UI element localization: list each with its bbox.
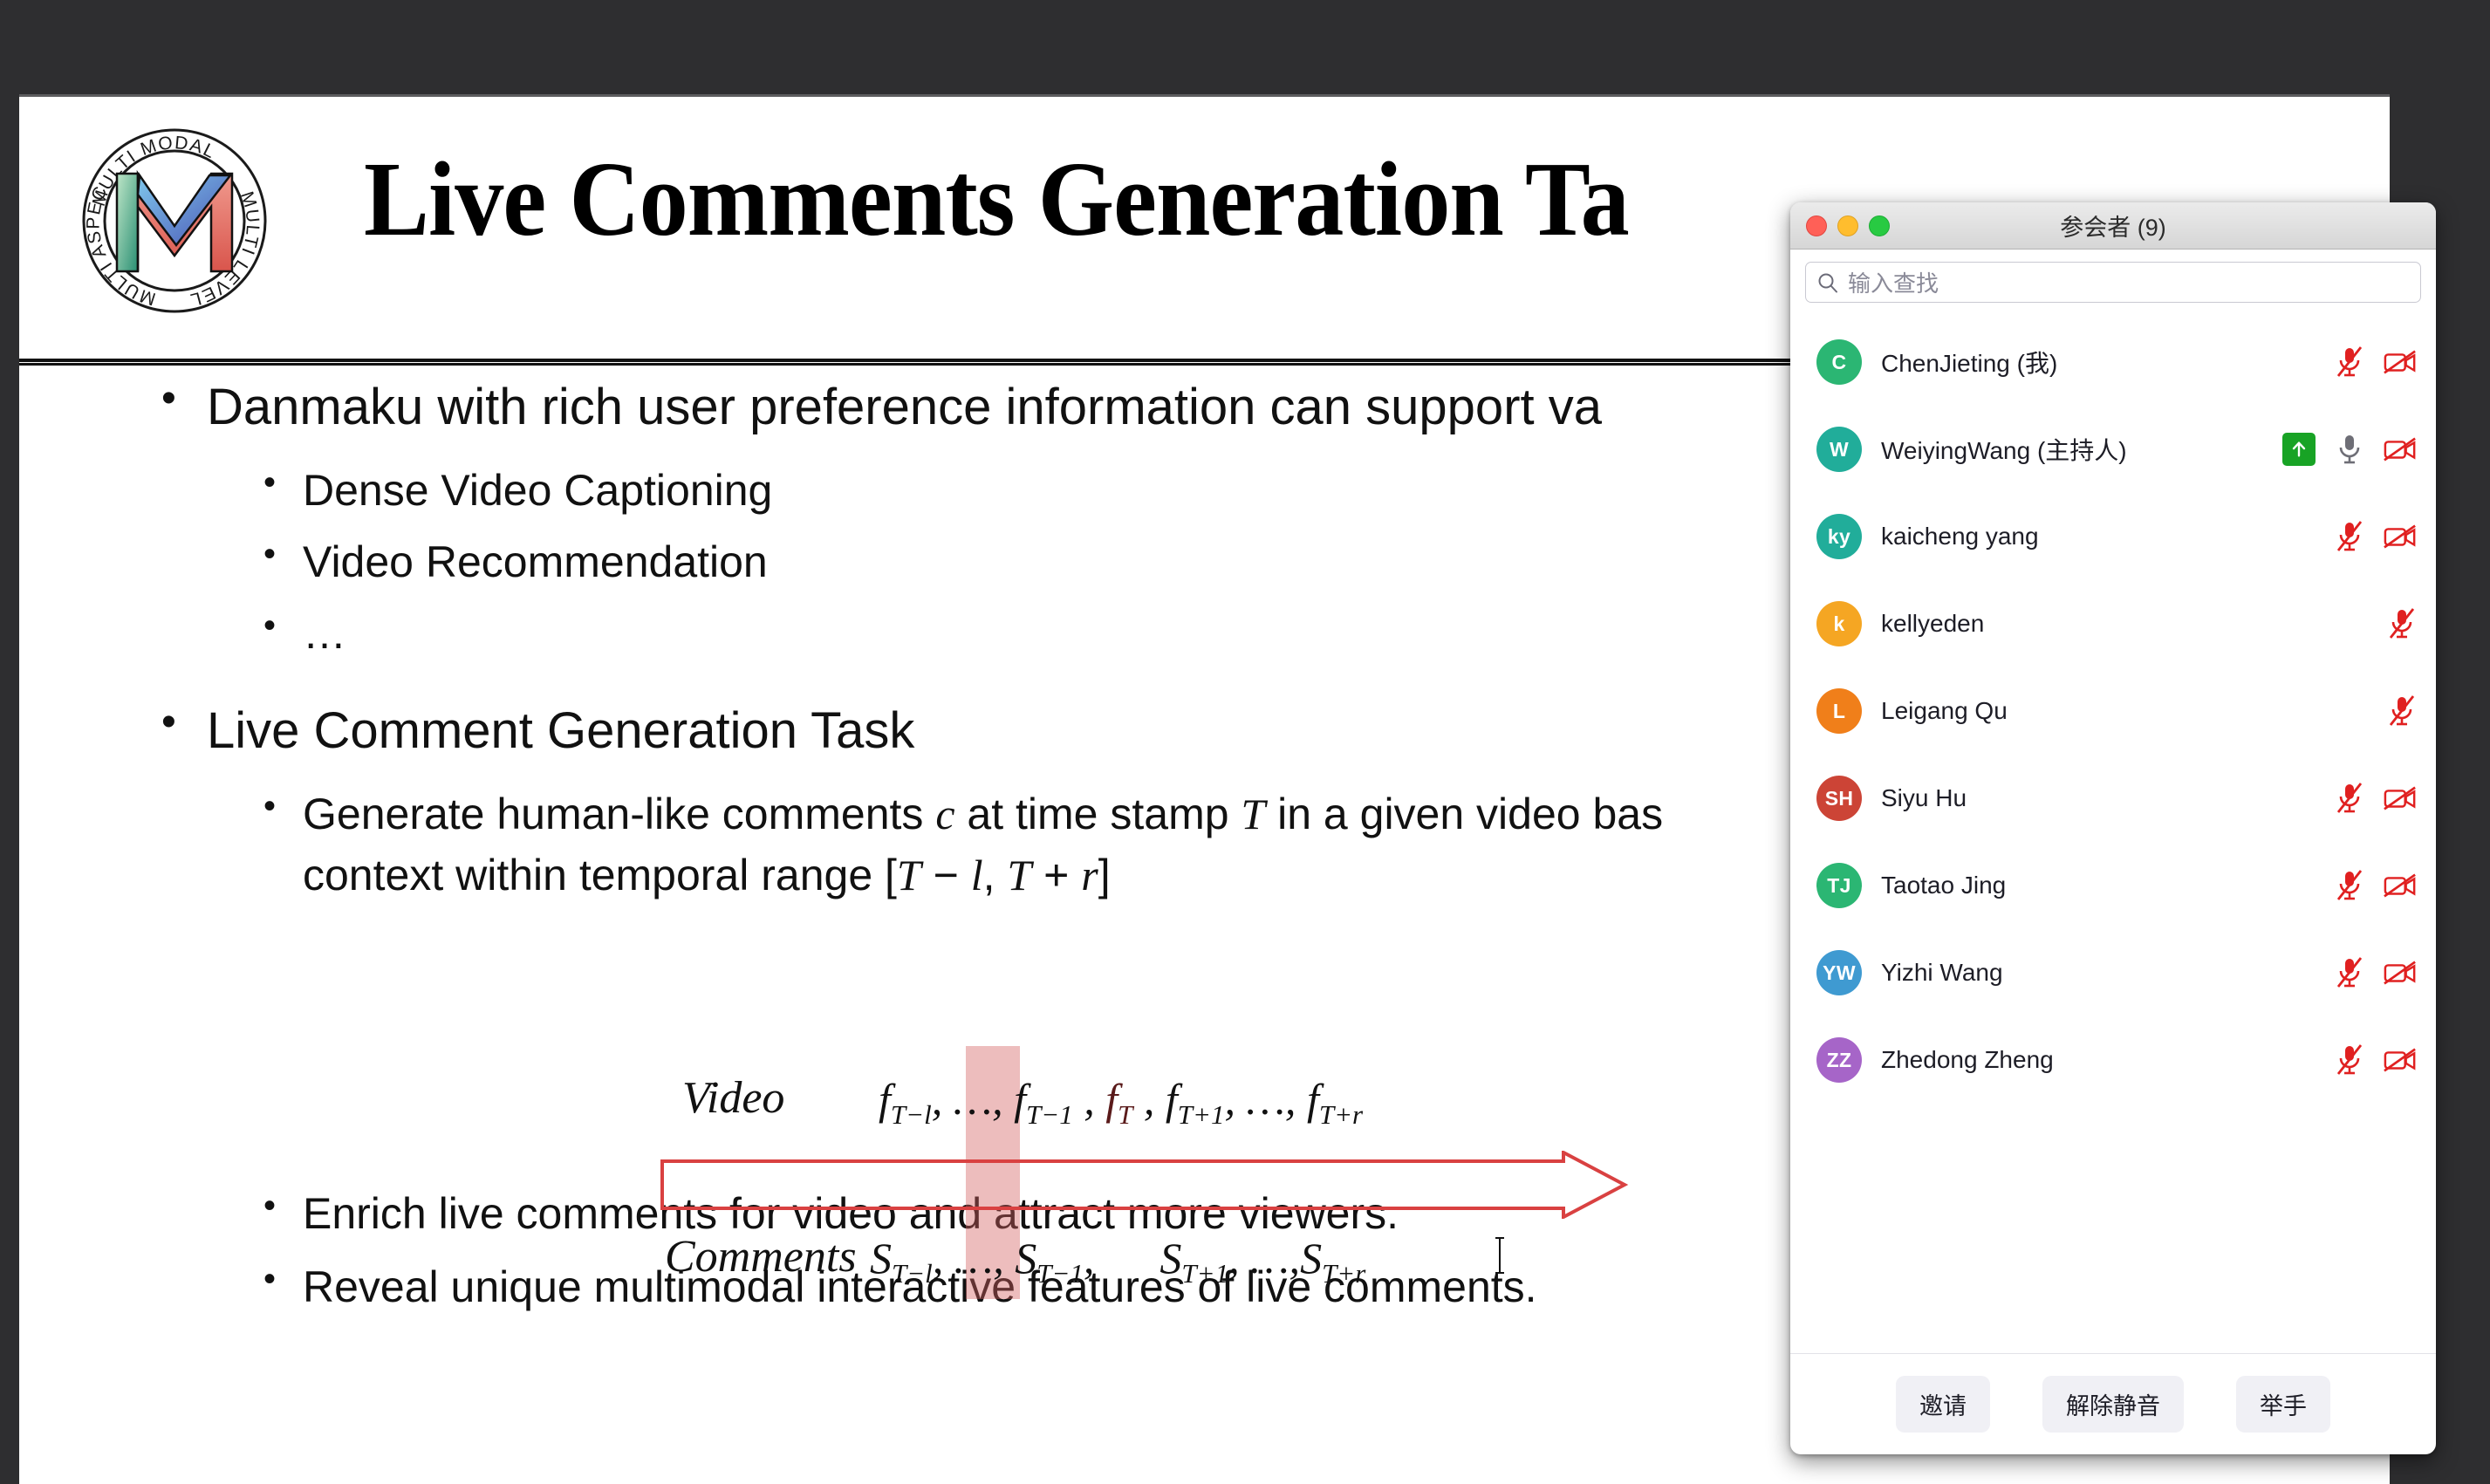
term-f-T: fT [1095,1075,1144,1124]
raise-hand-button[interactable]: 举手 [2236,1376,2330,1433]
camera-off-icon [2384,960,2417,986]
camera-off-icon [2384,523,2417,550]
bullet-marker: • [161,701,176,743]
participant-status-icons [2335,1043,2417,1077]
participant-name: kaicheng yang [1881,523,2335,551]
participant-row[interactable]: ZZZhedong Zheng [1790,1016,2436,1104]
window-controls[interactable] [1806,202,1890,249]
search-input[interactable]: 输入查找 [1805,262,2421,303]
participant-row[interactable]: kkellyeden [1790,580,2436,667]
participant-status-icons [2387,694,2417,728]
participants-panel[interactable]: 参会者 (9) 输入查找 CChenJieting (我)WWeiyingWan… [1790,202,2436,1454]
generate-line1-b: at time stamp [955,790,1242,838]
participant-row[interactable]: WWeiyingWang (主持人) [1790,406,2436,493]
participant-status-icons [2335,345,2417,379]
term-S-T-plus-r: ST+r [1300,1234,1365,1282]
term-S-T-minus-1: ST−1 [1015,1234,1084,1282]
math-comma: , [983,851,1008,899]
diagram-label-video: Video [682,1072,784,1124]
bullet-marker: • [263,1262,276,1296]
text-cursor-icon [1494,1235,1506,1275]
participant-row[interactable]: TJTaotao Jing [1790,842,2436,929]
term-f-T-plus-r: fT+r [1307,1075,1363,1124]
math-minus: − [921,851,971,899]
participant-row[interactable]: SHSiyu Hu [1790,755,2436,842]
ellipsis: , …, [1224,1075,1306,1124]
participant-name: Siyu Hu [1881,784,2335,812]
unmute-button[interactable]: 解除静音 [2042,1376,2184,1433]
term-f-T-minus-l: fT−l [879,1075,932,1124]
term-f-T-plus-1: fT+1 [1166,1075,1225,1124]
close-icon[interactable] [1806,215,1827,236]
panel-title: 参会者 (9) [2060,209,2166,243]
search-placeholder: 输入查找 [1848,266,1939,298]
panel-search-container: 输入查找 [1790,250,2436,311]
term-S-T-minus-l: ST−l [870,1234,933,1282]
bullet-marker: • [263,608,276,643]
timeline-arrow-icon [660,1151,1655,1219]
bullet-text: … [303,609,346,658]
participants-list[interactable]: CChenJieting (我)WWeiyingWang (主持人)kykaic… [1790,311,2436,1353]
math-var-T2: T [1007,851,1031,899]
generate-line1-d: in a given video bas [1265,790,1663,838]
math-bracket-close: ] [1098,851,1111,899]
mic-muted-icon [2387,694,2417,728]
participant-status-icons [2335,956,2417,989]
ellipsis: , …, [1228,1234,1300,1282]
bullet-text: Live Comment Generation Task [207,702,914,759]
mic-muted-icon [2335,345,2364,379]
camera-off-icon [2384,349,2417,375]
diagram-label-comments: Comments [665,1231,857,1282]
participant-row[interactable]: CChenJieting (我) [1790,318,2436,406]
mic-icon [2335,433,2364,466]
bullet-marker: • [161,378,176,420]
multimodal-logo-icon: MULTI MODAL MULTI LEVEL MULTI ASPECT [77,123,273,319]
term-S-T-plus-1: ST+1 [1159,1234,1228,1282]
term-f-T-minus-1: fT−1 [1014,1075,1073,1124]
avatar: L [1816,688,1862,734]
bullet-text: Danmaku with rich user preference inform… [207,379,1602,435]
slide-title: Live Comments Generation Ta [364,139,1629,261]
math-plus: + [1031,851,1081,899]
invite-button[interactable]: 邀请 [1896,1376,1990,1433]
participant-name: kellyeden [1881,610,2387,638]
generate-line2-a: context within temporal range [ [303,851,897,899]
participant-name: ChenJieting (我) [1881,345,2335,380]
participant-name: Yizhi Wang [1881,959,2335,987]
participant-status-icons [2282,433,2417,466]
camera-off-icon [2384,872,2417,899]
participant-row[interactable]: kykaicheng yang [1790,493,2436,580]
bullet-marker: • [263,789,276,824]
panel-footer: 邀请 解除静音 举手 [1790,1353,2436,1454]
search-icon [1816,271,1839,294]
maximize-icon[interactable] [1869,215,1890,236]
avatar: C [1816,339,1862,385]
ellipsis: , …, [933,1234,1015,1282]
avatar: TJ [1816,863,1862,908]
bullet-text: Dense Video Captioning [303,466,772,515]
participant-status-icons [2335,520,2417,553]
participant-name: Leigang Qu [1881,697,2387,725]
minimize-icon[interactable] [1837,215,1858,236]
avatar: k [1816,601,1862,646]
participant-name: Taotao Jing [1881,872,2335,899]
generate-line1-a: Generate human-like comments [303,790,935,838]
bullet-marker: • [263,465,276,500]
participant-name: Zhedong Zheng [1881,1046,2335,1074]
math-var-l: l [971,851,983,899]
math-var-r: r [1081,851,1098,899]
participant-row[interactable]: YWYizhi Wang [1790,929,2436,1016]
bullet-marker: • [263,1188,276,1223]
bullet-text: Video Recommendation [303,537,768,586]
participant-name: WeiyingWang (主持人) [1881,432,2282,467]
avatar: SH [1816,776,1862,821]
participant-status-icons [2387,607,2417,640]
avatar: ky [1816,514,1862,559]
camera-off-icon [2384,436,2417,462]
bullet-marker: • [263,537,276,571]
mic-muted-icon [2335,1043,2364,1077]
camera-off-icon [2384,1047,2417,1073]
math-var-T: T [1241,790,1265,838]
screen-share-icon[interactable] [2282,433,2316,466]
participant-status-icons [2335,869,2417,902]
math-var-c: c [935,790,954,838]
diagram-video-terms: fT−l, …, fT−1 , fT , fT+1, …, fT+r [879,1074,1363,1131]
avatar: YW [1816,950,1862,995]
camera-off-icon [2384,785,2417,811]
ellipsis: , …, [932,1075,1014,1124]
mic-muted-icon [2387,607,2417,640]
diagram-comments-terms: ST−l, …, ST−1, ST+1, …,ST+r [870,1233,1365,1289]
mic-muted-icon [2335,520,2364,553]
mic-muted-icon [2335,956,2364,989]
avatar: ZZ [1816,1037,1862,1083]
participant-status-icons [2335,782,2417,815]
participant-row[interactable]: LLeigang Qu [1790,667,2436,755]
mic-muted-icon [2335,782,2364,815]
avatar: W [1816,427,1862,472]
mic-muted-icon [2335,869,2364,902]
timeline-diagram: Video fT−l, …, fT−1 , fT , fT+1, …, fT+r… [682,1039,1712,1301]
panel-titlebar[interactable]: 参会者 (9) [1790,202,2436,250]
math-var-T1: T [897,851,921,899]
